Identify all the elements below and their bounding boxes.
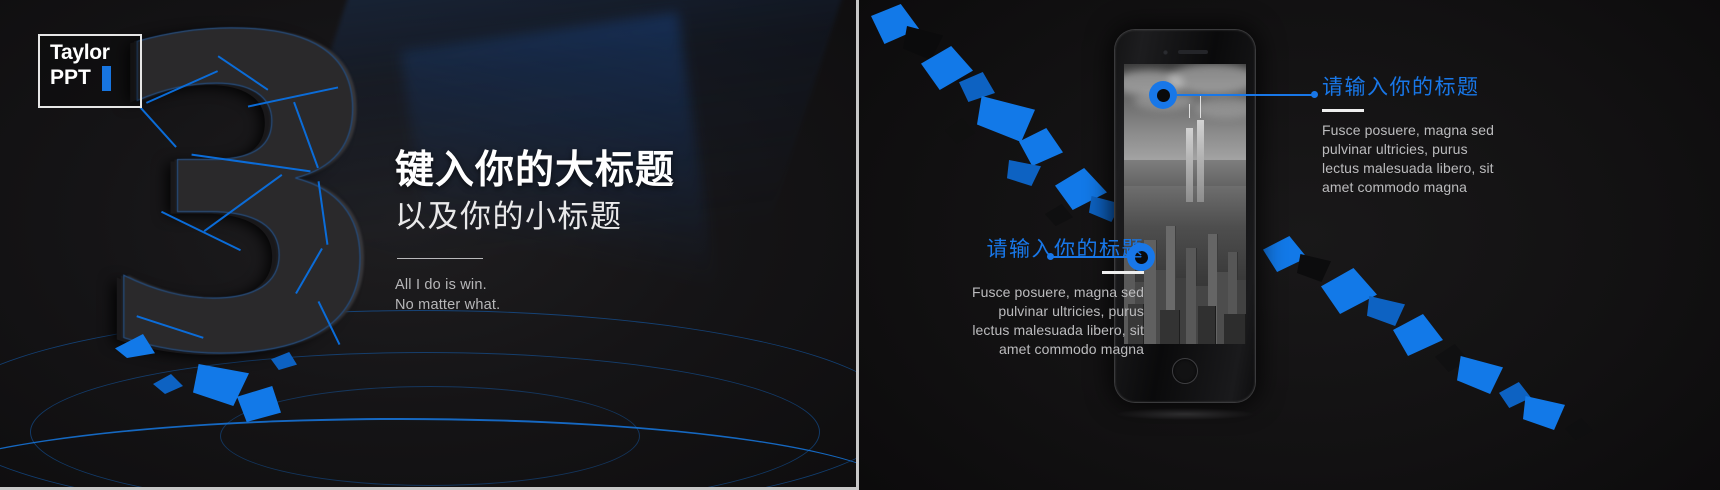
speaker-grille	[1178, 50, 1208, 54]
logo-line-1: Taylor	[50, 40, 140, 65]
callout-leader-line-top	[1177, 94, 1315, 96]
page-subtitle: 以及你的小标题	[395, 196, 815, 238]
home-button[interactable]	[1172, 358, 1198, 384]
callout-leader-dot-top	[1311, 91, 1318, 98]
left-panel: 3 3 Taylor PPT	[0, 0, 856, 490]
callout-body-line-2: pulvinar ultricies, purus	[859, 302, 1144, 321]
callout-body-line-4: amet commodo magna	[859, 340, 1144, 359]
camera-icon	[1163, 50, 1168, 55]
title-divider-rule	[397, 258, 483, 259]
phone-top-bar	[1115, 42, 1255, 62]
numeral-glow-outline: 3	[95, 34, 425, 414]
callout-bottom-left: 请输入你的标题 Fusce posuere, magna sed pulvina…	[859, 236, 1144, 359]
callout-underline-bar	[1322, 109, 1364, 112]
callout-title: 请输入你的标题	[1322, 74, 1552, 102]
tagline-line-1: All I do is win.	[395, 275, 815, 295]
logo-line-2: PPT	[50, 65, 91, 91]
panel-divider	[856, 0, 859, 490]
presentation-slide: 3 3 Taylor PPT	[0, 0, 1720, 490]
callout-body-line-1: Fusce posuere, magna sed	[859, 283, 1144, 302]
callout-underline-bar	[1102, 271, 1144, 274]
callout-body-line-4: amet commodo magna	[1322, 178, 1552, 197]
callout-marker-top[interactable]	[1149, 81, 1177, 109]
callout-body-line-3: lectus malesuada libero, sit	[859, 321, 1144, 340]
big-numeral-graphic: 3 3	[95, 34, 425, 414]
marker-inner-dot	[1157, 89, 1170, 102]
page-title: 键入你的大标题	[395, 148, 815, 194]
callout-body-line-2: pulvinar ultricies, purus	[1322, 140, 1552, 159]
callout-top-right: 请输入你的标题 Fusce posuere, magna sed pulvina…	[1322, 74, 1552, 197]
tagline-line-2: No matter what.	[395, 295, 815, 315]
headline-block: 键入你的大标题 以及你的小标题 All I do is win. No matt…	[395, 148, 815, 315]
logo-badge[interactable]: Taylor PPT	[38, 34, 142, 108]
right-panel: 请输入你的标题 Fusce posuere, magna sed pulvina…	[859, 0, 1720, 490]
phone-shadow	[1117, 408, 1253, 420]
callout-title: 请输入你的标题	[859, 236, 1144, 264]
callout-body-line-3: lectus malesuada libero, sit	[1322, 159, 1552, 178]
callout-body-line-1: Fusce posuere, magna sed	[1322, 121, 1552, 140]
logo-accent-bar	[102, 66, 111, 91]
